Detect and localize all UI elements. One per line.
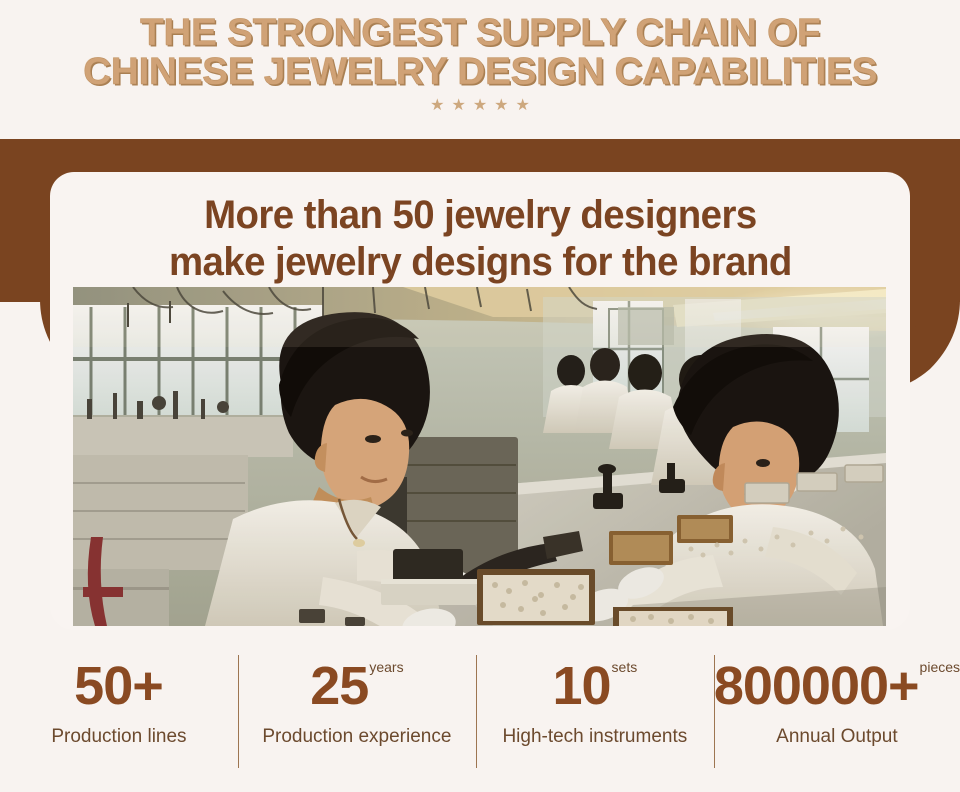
page-title: THE STRONGEST SUPPLY CHAIN OF CHINESE JE… — [83, 14, 877, 92]
stat-value-group: 25 years — [310, 657, 403, 715]
header-banner: THE STRONGEST SUPPLY CHAIN OF CHINESE JE… — [0, 0, 960, 139]
stat-label: Annual Output — [776, 725, 897, 748]
stat-label: Production lines — [51, 725, 186, 748]
stat-annual-output: 800000+ pieces Annual Output — [714, 645, 960, 792]
content-card: More than 50 jewelry designers make jewe… — [50, 172, 910, 630]
stat-label: High-tech instruments — [502, 725, 687, 748]
stat-value-group: 800000+ pieces — [714, 657, 960, 715]
stat-number: 25 — [310, 657, 368, 715]
stats-row: 50+ Production lines 25 years Production… — [0, 645, 960, 792]
stat-production-experience: 25 years Production experience — [238, 645, 476, 792]
stat-number: 50+ — [74, 657, 163, 715]
stat-high-tech-instruments: 10 sets High-tech instruments — [476, 645, 714, 792]
stat-production-lines: 50+ Production lines — [0, 645, 238, 792]
stat-label: Production experience — [262, 725, 451, 748]
stat-unit: years — [369, 659, 403, 675]
star-rating-icons: ★★★★★ — [423, 98, 537, 114]
stat-value-group: 50+ — [74, 657, 164, 715]
stat-unit: pieces — [920, 659, 960, 675]
card-heading: More than 50 jewelry designers make jewe… — [169, 192, 792, 286]
stat-value-group: 10 sets — [552, 657, 637, 715]
workshop-photo — [73, 287, 886, 626]
stat-number: 800000+ — [714, 657, 919, 715]
stat-unit: sets — [612, 659, 638, 675]
stat-number: 10 — [552, 657, 610, 715]
